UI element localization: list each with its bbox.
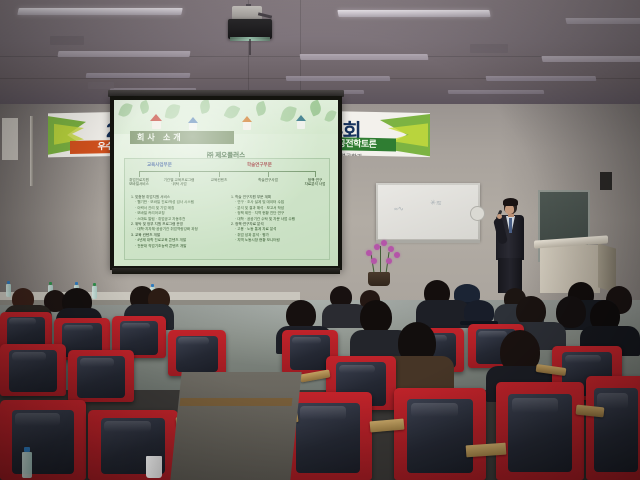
slide-content-panel: 교육사업부문 학술연구부문 취업진로지원 모바일서비스 기관별 교육프로그램 ·… — [124, 158, 330, 260]
bottle-cap-icon — [49, 282, 52, 285]
baseball-cap — [464, 300, 494, 322]
bottle-cap-icon — [93, 283, 96, 286]
seat-highlight — [512, 398, 558, 414]
ceiling-light — [448, 90, 545, 94]
whiteboard: ≈∿ ✳︎≋ — [378, 185, 478, 239]
bullet-line: · 전문대 직업기초능력 콘텐츠 개발 — [131, 244, 223, 249]
ceiling-vent — [50, 36, 84, 45]
orchid-stem — [380, 246, 381, 274]
auditorium-seat — [496, 382, 584, 480]
ceiling-light — [58, 51, 191, 57]
bottle-cap-icon — [151, 284, 154, 287]
ceiling-light — [300, 54, 429, 60]
ceiling-vent — [88, 82, 114, 89]
leaf-icon — [165, 103, 181, 120]
orchid-bloom — [374, 244, 380, 250]
orchid-bloom — [381, 240, 387, 246]
ceiling-light — [86, 73, 191, 78]
slide-title: 회사 소개 — [130, 131, 234, 144]
org-connector — [139, 171, 315, 172]
projection-screen: 회사 소개 ㈜ 제오플러스 교육사업부문 학술연구부문 취업진로지원 모바일서비… — [114, 100, 338, 266]
whiteboard-marks: ≈∿ — [394, 205, 405, 214]
orchid-pot — [368, 272, 390, 286]
auditorium-photo: 200 우수취업 일시 2009. 수회 공전학토론 학교 환경공학과 — [0, 0, 640, 480]
leaf-icon — [254, 101, 268, 116]
paper-cup — [146, 456, 162, 478]
seat-highlight — [9, 318, 36, 324]
org-box: 취업진로지원 모바일서비스 — [121, 178, 157, 187]
ceiling-light — [17, 8, 182, 15]
auditorium-seat — [0, 400, 86, 480]
auditorium-seat — [0, 344, 66, 396]
org-box: 정책·연구 자료분석 사업 — [297, 178, 333, 187]
seat-highlight — [292, 337, 321, 344]
whiteboard-marks: ✳︎≋ — [430, 199, 442, 208]
seat-highlight — [565, 355, 601, 364]
leaf-icon — [324, 109, 337, 123]
house-icon — [297, 121, 305, 129]
wall-pipe — [30, 116, 33, 186]
orchid-bloom — [394, 252, 400, 258]
orchid-bloom — [366, 250, 372, 256]
presenter-tie — [509, 218, 512, 233]
wall-speaker-box — [600, 172, 612, 190]
org-connector — [315, 171, 316, 177]
orchid-bloom — [371, 258, 377, 264]
aisle-floor — [170, 372, 301, 480]
auditorium-seat — [68, 350, 134, 402]
seat-highlight — [80, 358, 114, 366]
bottle-cap-icon — [75, 282, 78, 285]
seat-highlight — [64, 325, 93, 332]
presenter-hand — [497, 214, 502, 219]
slide-bullets-left: 1. 맞춤형 취업지원 서비스 · 웹기반 · 모바일 진로/적성 검사 시스템… — [131, 195, 223, 249]
ceiling-vent — [470, 44, 508, 53]
bottle-cap-icon — [7, 281, 10, 284]
lectern-side — [598, 243, 616, 292]
wall-notice — [2, 118, 18, 160]
house-icon — [152, 121, 161, 129]
presenter-hair — [503, 198, 518, 206]
org-box: 기관별 교육프로그램 ·위탁 사업 — [161, 178, 197, 187]
audience-head — [360, 300, 392, 334]
leaf-icon — [118, 102, 133, 119]
auditorium-seat — [394, 388, 486, 480]
house-icon — [243, 122, 251, 130]
leaf-icon — [199, 100, 212, 114]
wall-clock — [470, 206, 485, 221]
ceiling-light — [286, 76, 391, 81]
seat-highlight — [122, 323, 150, 330]
leaf-icon — [138, 100, 151, 114]
seat-highlight — [12, 352, 46, 360]
bullet-line: · 지역 노동시장 현황 모니터링 — [231, 238, 323, 243]
bottle-cap-icon — [24, 447, 30, 452]
seat-highlight — [104, 421, 151, 432]
seat-highlight — [411, 403, 459, 418]
slide-bullets-right: 1. 학술 연구지원 부문 계획 · 연구 · 조사 설계 및 데이터 수집 ·… — [231, 195, 323, 244]
ceiling-light — [541, 56, 640, 62]
org-header-research: 학술연구부문 — [247, 162, 272, 168]
presenter-face — [505, 205, 514, 214]
ceiling-projector — [228, 19, 272, 39]
auditorium-seat — [88, 410, 178, 480]
seat-highlight — [339, 365, 375, 374]
screen-bottom-bar — [112, 268, 340, 274]
projector-cable — [249, 39, 251, 55]
house-icon — [150, 114, 162, 121]
auditorium-seat — [586, 376, 640, 480]
seat-highlight — [15, 413, 60, 426]
org-connector — [139, 171, 140, 177]
leaf-icon — [280, 105, 297, 124]
org-connector — [179, 171, 180, 177]
leaf-icon — [308, 100, 324, 117]
org-box: 학술연구사업 — [250, 178, 286, 182]
org-connector — [268, 171, 269, 177]
ceiling-light — [337, 10, 490, 17]
water-bottle — [22, 452, 32, 478]
ceiling-light — [565, 18, 640, 24]
org-connector — [219, 171, 220, 177]
house-icon — [189, 123, 197, 130]
auditorium-seat — [168, 330, 226, 376]
leaf-icon — [224, 103, 241, 121]
seat-highlight — [178, 337, 208, 344]
seat-highlight — [300, 406, 346, 420]
ceiling-light — [486, 76, 597, 81]
seat-highlight — [478, 331, 507, 338]
aisle-step — [180, 398, 293, 406]
org-header-education: 교육사업부문 — [147, 162, 172, 168]
water-bottle — [6, 284, 11, 297]
slide-header-band — [114, 100, 338, 134]
orchid-bloom — [386, 258, 392, 264]
org-box: 교육컨텐츠 — [201, 178, 237, 182]
orchid-bloom — [388, 246, 394, 252]
whiteboard-tray — [376, 240, 480, 243]
water-bottle — [92, 286, 97, 299]
